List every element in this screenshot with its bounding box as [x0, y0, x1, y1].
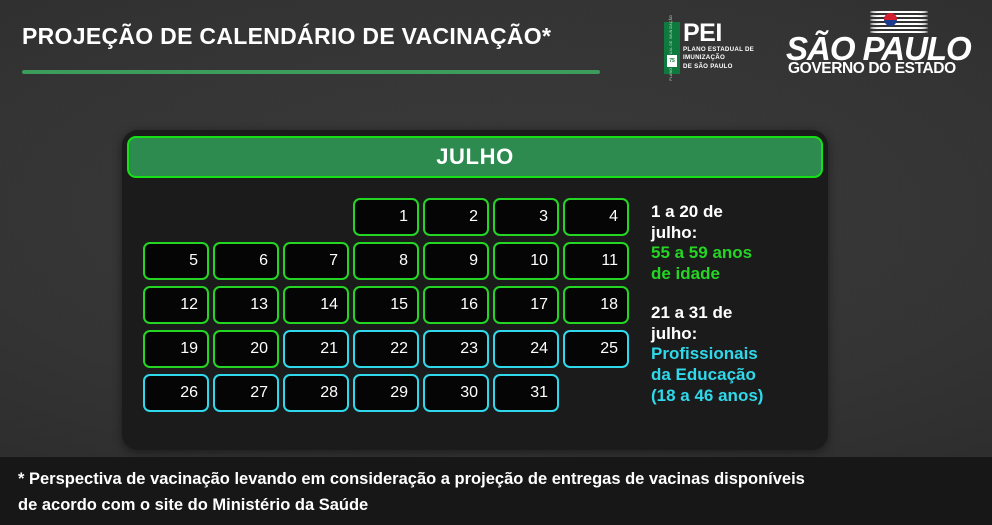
legend-block-2: 21 a 31 dejulho:Profissionaisda Educação…: [651, 303, 819, 407]
footnote-text: * Perspectiva de vacinação levando em co…: [18, 467, 974, 518]
calendar-day-cell-23[interactable]: 23: [423, 330, 489, 368]
pei-seal-icon: 75: [666, 54, 678, 68]
calendar-day-cell-25[interactable]: 25: [563, 330, 629, 368]
sao-paulo-government-logo: SÃO PAULO GOVERNO DO ESTADO: [786, 10, 976, 72]
calendar-day-cell-9[interactable]: 9: [423, 242, 489, 280]
calendar-day-cell-13[interactable]: 13: [213, 286, 279, 324]
legend-group-line-1: Profissionais: [651, 344, 819, 365]
calendar-day-cell-6[interactable]: 6: [213, 242, 279, 280]
legend-period-line-2: julho:: [651, 324, 819, 345]
legend-period-line-1: 1 a 20 de: [651, 202, 819, 223]
calendar-day-cell-empty: [143, 198, 209, 236]
calendar-day-cell-30[interactable]: 30: [423, 374, 489, 412]
legend-group-line-2: da Educação: [651, 365, 819, 386]
calendar-day-cell-12[interactable]: 12: [143, 286, 209, 324]
calendar-day-cell-1[interactable]: 1: [353, 198, 419, 236]
calendar-day-cell-10[interactable]: 10: [493, 242, 559, 280]
calendar-card: JULHO 1234567891011121314151617181920212…: [122, 130, 828, 450]
month-label: JULHO: [436, 144, 514, 170]
calendar-day-cell-21[interactable]: 21: [283, 330, 349, 368]
calendar-day-cell-28[interactable]: 28: [283, 374, 349, 412]
calendar-day-cell-15[interactable]: 15: [353, 286, 419, 324]
legend-period-line-1: 21 a 31 de: [651, 303, 819, 324]
calendar-day-cell-8[interactable]: 8: [353, 242, 419, 280]
calendar-day-cell-29[interactable]: 29: [353, 374, 419, 412]
pei-subtitle-line-1: PLANO ESTADUAL DE: [683, 46, 754, 55]
pei-logo: PLANO ESTADUAL DE IMUNIZAÇÃO 75 PEI PLAN…: [664, 22, 760, 74]
legend-block-1: 1 a 20 dejulho:55 a 59 anosde idade: [651, 202, 819, 285]
calendar-week-row: 262728293031: [143, 374, 635, 418]
pei-seal-label: 75: [669, 59, 675, 64]
calendar-day-cell-20[interactable]: 20: [213, 330, 279, 368]
footnote-line-2: de acordo com o site do Ministério da Sa…: [18, 493, 974, 519]
legend-group-line-1: 55 a 59 anos: [651, 243, 819, 264]
calendar-day-cell-17[interactable]: 17: [493, 286, 559, 324]
calendar-day-cell-26[interactable]: 26: [143, 374, 209, 412]
calendar-legend: 1 a 20 dejulho:55 a 59 anosde idade21 a …: [651, 202, 819, 425]
calendar-day-cell-5[interactable]: 5: [143, 242, 209, 280]
pei-bar-label: PLANO ESTADUAL DE IMUNIZAÇÃO: [670, 15, 673, 81]
calendar-day-cell-2[interactable]: 2: [423, 198, 489, 236]
calendar-day-cell-19[interactable]: 19: [143, 330, 209, 368]
sao-paulo-tagline: GOVERNO DO ESTADO: [788, 61, 956, 77]
pei-subtitle-line-2: IMUNIZAÇÃO: [683, 54, 754, 63]
calendar-day-cell-16[interactable]: 16: [423, 286, 489, 324]
legend-group-line-2: de idade: [651, 264, 819, 285]
calendar-day-cell-22[interactable]: 22: [353, 330, 419, 368]
calendar-day-grid: 1234567891011121314151617181920212223242…: [143, 198, 635, 418]
calendar-day-cell-31[interactable]: 31: [493, 374, 559, 412]
calendar-day-cell-7[interactable]: 7: [283, 242, 349, 280]
calendar-day-cell-14[interactable]: 14: [283, 286, 349, 324]
slide-root: PROJEÇÃO DE CALENDÁRIO DE VACINAÇÃO* PLA…: [0, 0, 992, 525]
calendar-day-cell-empty: [213, 198, 279, 236]
pei-wordmark: PEI: [683, 22, 754, 46]
title-underline-rule: [22, 70, 600, 74]
sao-paulo-flag-emblem-icon: [884, 13, 897, 26]
calendar-day-cell-empty: [563, 374, 629, 412]
pei-subtitle-line-3: DE SÃO PAULO: [683, 63, 754, 72]
calendar-day-cell-27[interactable]: 27: [213, 374, 279, 412]
calendar-day-cell-3[interactable]: 3: [493, 198, 559, 236]
calendar-day-cell-24[interactable]: 24: [493, 330, 559, 368]
calendar-day-cell-11[interactable]: 11: [563, 242, 629, 280]
pei-text-block: PEI PLANO ESTADUAL DE IMUNIZAÇÃO DE SÃO …: [683, 22, 754, 74]
footnote-bar: * Perspectiva de vacinação levando em co…: [0, 457, 992, 525]
calendar-day-cell-18[interactable]: 18: [563, 286, 629, 324]
page-title: PROJEÇÃO DE CALENDÁRIO DE VACINAÇÃO*: [22, 23, 551, 50]
month-header-bar: JULHO: [127, 136, 823, 178]
footnote-line-1: * Perspectiva de vacinação levando em co…: [18, 467, 974, 493]
legend-period-line-2: julho:: [651, 223, 819, 244]
calendar-week-row: 1234: [143, 198, 635, 242]
calendar-week-row: 19202122232425: [143, 330, 635, 374]
calendar-week-row: 567891011: [143, 242, 635, 286]
calendar-day-cell-empty: [283, 198, 349, 236]
calendar-day-cell-4[interactable]: 4: [563, 198, 629, 236]
pei-green-bar: PLANO ESTADUAL DE IMUNIZAÇÃO 75: [664, 22, 680, 74]
calendar-week-row: 12131415161718: [143, 286, 635, 330]
legend-group-line-3: (18 a 46 anos): [651, 386, 819, 407]
